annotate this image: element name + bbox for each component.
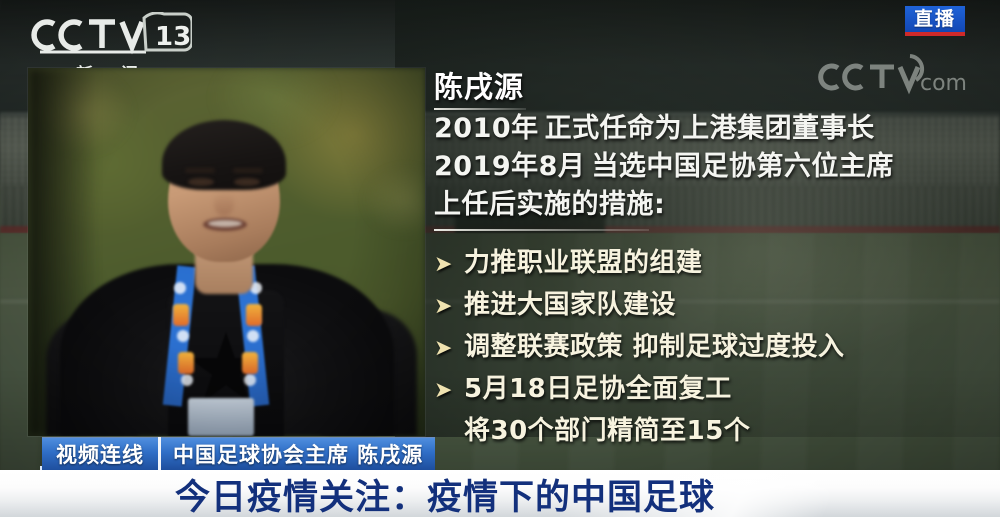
fact-text: 当选中国足协第六位主席 [591, 151, 894, 182]
list-item-label: 调整联赛政策 抑制足球过度投入 [464, 331, 845, 364]
live-badge: 直播 [905, 6, 965, 36]
subject-title-label: 中国足球协会主席 陈戌源 [173, 439, 423, 469]
photo-vignette [28, 68, 425, 436]
list-item: ➤ 推进大国家队建设 [434, 289, 974, 322]
bullet-arrow-icon: ➤ [434, 247, 464, 280]
fact-year: 2019年8月 [434, 151, 585, 182]
fact-year: 2010年 [434, 113, 539, 144]
live-badge-label: 直播 [914, 9, 956, 29]
fact-row: 2019年8月当选中国足协第六位主席 [434, 148, 974, 186]
info-panel: 陈戌源 2010年正式任命为上港集团董事长 2019年8月当选中国足协第六位主席… [434, 70, 974, 448]
list-item: ➤ 调整联赛政策 抑制足球过度投入 [434, 331, 974, 364]
lower-third-row: 视频连线 中国足球协会主席 陈戌源 [42, 437, 435, 470]
headline-text: 今日疫情关注：疫情下的中国足球 [175, 471, 715, 517]
list-item-label: 5月18日足协全面复工 [464, 373, 732, 406]
fact-text: 正式任命为上港集团董事长 [545, 113, 875, 144]
list-item-label: 推进大国家队建设 [464, 289, 676, 322]
fact-row: 2010年正式任命为上港集团董事长 [434, 110, 974, 148]
bullet-arrow-icon: ➤ [434, 289, 464, 322]
broadcast-screen: 13 新 闻 直播 com [0, 0, 1000, 517]
measures-list: ➤ 力推职业联盟的组建 ➤ 推进大国家队建设 ➤ 调整联赛政策 抑制足球过度投入… [434, 247, 974, 448]
list-item-continuation: 将30个部门精简至15个 [464, 415, 974, 448]
list-item: ➤ 力推职业联盟的组建 [434, 247, 974, 280]
measures-title: 上任后实施的措施: [434, 186, 974, 224]
video-link-label: 视频连线 [56, 439, 144, 469]
subject-title-bar: 中国足球协会主席 陈戌源 [161, 437, 435, 470]
bullet-arrow-icon: ➤ [434, 331, 464, 364]
subject-name: 陈戌源 [434, 70, 974, 104]
subject-photo [28, 68, 425, 436]
list-item: ➤ 5月18日足协全面复工 [434, 373, 974, 406]
svg-text:13: 13 [155, 22, 191, 52]
cctv13-logo: 13 新 闻 [24, 12, 192, 74]
list-item-label: 力推职业联盟的组建 [464, 247, 703, 280]
measures-underline [434, 229, 649, 231]
bullet-arrow-icon: ➤ [434, 373, 464, 406]
video-link-tag: 视频连线 [42, 437, 158, 470]
